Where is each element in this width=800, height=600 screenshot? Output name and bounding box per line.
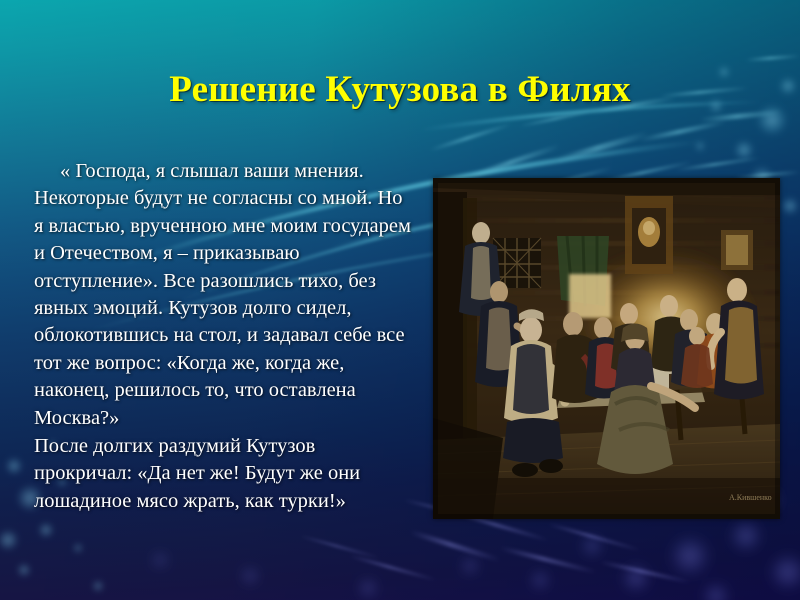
slide-title: Решение Кутузова в Филях xyxy=(0,69,800,112)
body-paragraph-2: После долгих раздумий Кутузов прокричал:… xyxy=(34,433,412,515)
body-paragraph-1: « Господа, я слышал ваши мнения. Некотор… xyxy=(34,158,412,432)
presentation-slide: Решение Кутузова в Филях « Господа, я сл… xyxy=(0,0,800,600)
painting-council-in-fili: А.Кившенко xyxy=(433,178,780,519)
slide-body-text: « Господа, я слышал ваши мнения. Некотор… xyxy=(34,158,412,515)
